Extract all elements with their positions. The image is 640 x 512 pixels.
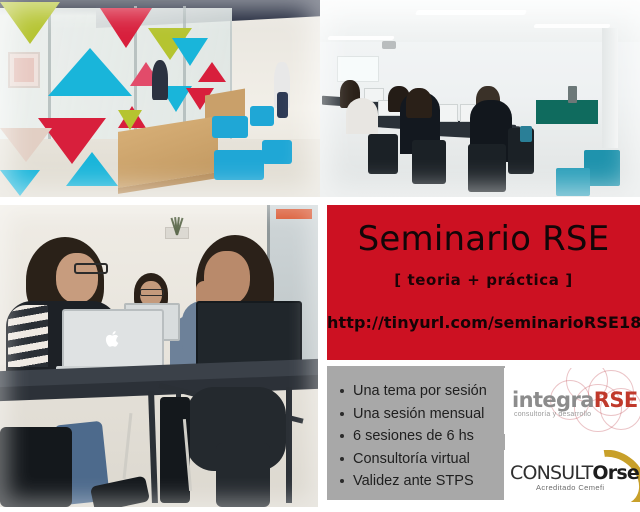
integra-wordmark: integraRSE xyxy=(512,388,638,412)
consulto-wordmark: CONSULTOrse xyxy=(510,462,639,484)
list-item: Una tema por sesión xyxy=(353,380,505,403)
integra-rse-logo: integraRSE consultoría y desarrollo xyxy=(504,368,640,434)
consulto-tagline: Acreditado Cemefi xyxy=(536,483,605,492)
integra-tagline: consultoría y desarrollo xyxy=(514,411,591,418)
list-item: Validez ante STPS xyxy=(353,470,505,493)
photo-vignette xyxy=(0,0,320,197)
features-panel: Una tema por sesión Una sesión mensual 6… xyxy=(327,366,505,500)
lobby-scene xyxy=(0,0,320,197)
consulto-word-light: CONSULT xyxy=(510,462,592,484)
integra-word-bold: RSE xyxy=(594,388,638,412)
list-item: Una sesión mensual xyxy=(353,403,505,426)
seminario-rse-poster: Seminario RSE [ teoria + práctica ] http… xyxy=(0,0,640,512)
page-title: Seminario RSE xyxy=(327,219,640,259)
integra-word-light: integra xyxy=(512,388,594,412)
registration-url[interactable]: http://tinyurl.com/seminarioRSE18 xyxy=(327,313,640,332)
coworking-lobby-and-classroom-photo xyxy=(0,0,640,197)
participants-with-laptops-photo xyxy=(0,205,318,507)
list-item: Consultoría virtual xyxy=(353,448,505,471)
photo-vignette xyxy=(0,205,318,507)
classroom-scene xyxy=(320,0,640,197)
consulto-word-bold: Orse xyxy=(592,462,639,484)
list-item: 6 sesiones de 6 hs xyxy=(353,425,505,448)
consulto-rse-logo: CONSULTOrse Acreditado Cemefi xyxy=(504,450,640,502)
subtitle: [ teoria + práctica ] xyxy=(327,271,640,289)
photo-vignette xyxy=(320,0,640,197)
features-list: Una tema por sesión Una sesión mensual 6… xyxy=(327,366,505,493)
red-title-panel: Seminario RSE [ teoria + práctica ] http… xyxy=(327,205,640,360)
